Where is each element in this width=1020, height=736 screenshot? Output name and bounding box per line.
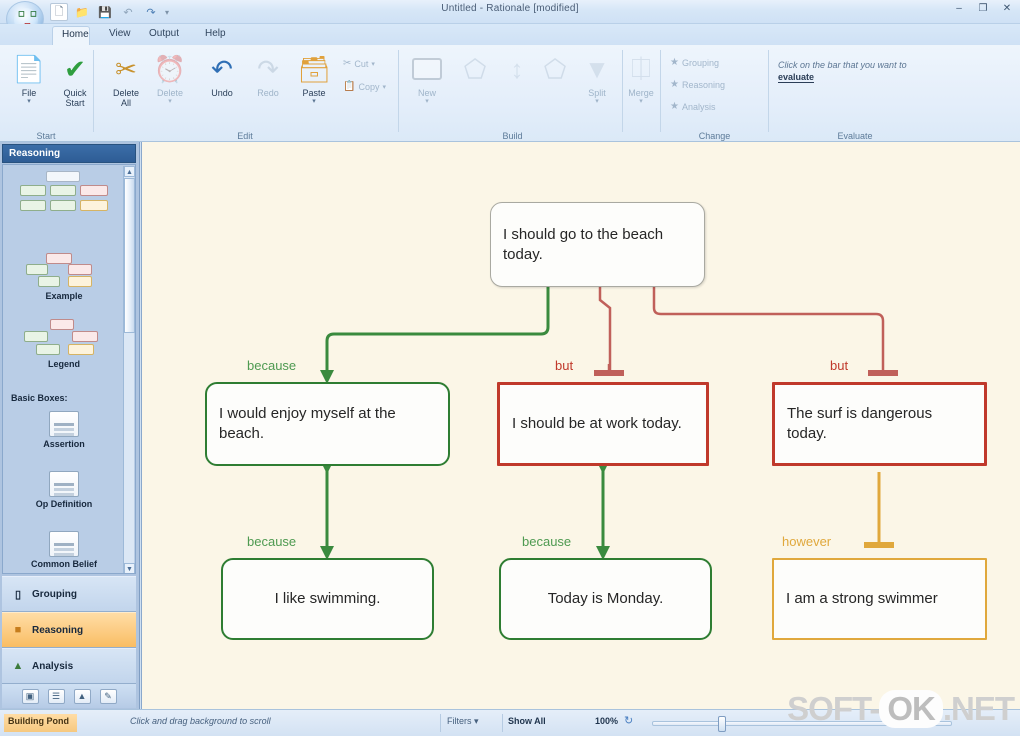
ribbon-group-start: 📄 File ▾ ✔ Quick Start Start bbox=[0, 45, 92, 142]
sidebar-panel-body: Example Legend Basic Boxes: Assertion bbox=[2, 164, 136, 574]
watermark-pill: OK bbox=[879, 690, 943, 728]
minimize-button[interactable]: – bbox=[952, 4, 966, 14]
new-box-label: New bbox=[400, 88, 454, 98]
edge-label-n5: because bbox=[522, 534, 571, 549]
window-controls[interactable]: – ❐ ✕ bbox=[952, 4, 1014, 14]
group-label-start: Start bbox=[0, 131, 92, 141]
however-bar bbox=[864, 542, 894, 548]
filter-chevron-down-icon[interactable]: ▾ bbox=[474, 716, 479, 726]
delete-button[interactable]: ⏰ Delete ▾ bbox=[143, 50, 197, 106]
status-separator-2 bbox=[502, 714, 503, 732]
open-folder-icon[interactable]: 📁 bbox=[73, 3, 91, 21]
group-separator-2 bbox=[398, 50, 399, 132]
new-document-icon[interactable]: 🗋 bbox=[50, 3, 68, 21]
ribbon-group-merge: ⎅ Merge ▾ bbox=[624, 45, 659, 142]
reasoning-icon: ★ bbox=[670, 79, 679, 90]
argument-map-canvas[interactable]: because but but because because however … bbox=[141, 142, 1020, 709]
definition-caption: Op Definition bbox=[9, 499, 119, 509]
qat-more-icon[interactable]: ▾ bbox=[165, 8, 169, 17]
basic-box-common-belief[interactable]: Common Belief bbox=[9, 531, 119, 569]
map-preview-thumbnail[interactable] bbox=[9, 171, 119, 217]
map-node-root-text: I should go to the beach today. bbox=[503, 225, 692, 265]
paste-chevron-down-icon[interactable]: ▾ bbox=[287, 98, 341, 106]
sidebar-item-reasoning[interactable]: ■ Reasoning bbox=[2, 612, 136, 648]
basic-box-definition[interactable]: Op Definition bbox=[9, 471, 119, 509]
map-preview-graphic bbox=[16, 171, 112, 215]
orb-glyph-right: ◻ bbox=[28, 8, 39, 19]
definition-icon bbox=[49, 471, 79, 497]
sidebar-bottom-toolbar: ▣ ☰ ▲ ✎ bbox=[2, 684, 136, 708]
list-icon[interactable]: ☰ bbox=[48, 689, 65, 704]
evaluate-hint: Click on the bar that you want to evalua… bbox=[778, 59, 928, 83]
copy-button-label: Copy bbox=[358, 82, 379, 92]
tab-help[interactable]: Help bbox=[196, 26, 235, 45]
group-label-build: Build bbox=[400, 131, 625, 141]
new-chevron-down-icon[interactable]: ▾ bbox=[400, 98, 454, 106]
map-node-n6[interactable]: I am a strong swimmer bbox=[772, 558, 987, 640]
objection-bar-n3-bottom bbox=[868, 370, 898, 376]
maximize-button[interactable]: ❐ bbox=[976, 4, 990, 14]
map-node-root[interactable]: I should go to the beach today. bbox=[490, 202, 705, 287]
status-separator-1 bbox=[440, 714, 441, 732]
map-node-n1[interactable]: I would enjoy myself at the beach. bbox=[205, 382, 450, 466]
change-reasoning-label: Reasoning bbox=[682, 80, 725, 90]
common-belief-caption: Common Belief bbox=[9, 559, 119, 569]
basic-box-assertion[interactable]: Assertion bbox=[9, 411, 119, 449]
assertion-icon bbox=[49, 411, 79, 437]
watermark-left: SOFT- bbox=[787, 690, 879, 727]
grouping-icon: ★ bbox=[670, 57, 679, 68]
sidebar-item-grouping-label: Grouping bbox=[32, 589, 77, 600]
save-disk-icon[interactable]: 💾 bbox=[96, 3, 114, 21]
analysis-icon: ▲ bbox=[10, 659, 26, 673]
chart-icon[interactable]: ▲ bbox=[74, 689, 91, 704]
grouping-icon: ▯ bbox=[10, 587, 26, 601]
paste-button[interactable]: 🗃 Paste ▾ bbox=[287, 50, 341, 106]
ribbon-group-build: New ▾ ⬠ ↕ ⬠ ▼ Split ▾ Build bbox=[400, 45, 625, 142]
map-node-n5[interactable]: Today is Monday. bbox=[499, 558, 712, 640]
ribbon-tab-bar: Home View Output Help bbox=[0, 24, 1020, 45]
reasoning-icon: ■ bbox=[10, 623, 26, 637]
legend-thumbnail[interactable]: Legend bbox=[9, 319, 119, 369]
left-sidebar: Reasoning bbox=[0, 142, 140, 709]
watermark: SOFT-OK.NET bbox=[787, 690, 1014, 728]
sidebar-item-analysis[interactable]: ▲ Analysis bbox=[2, 648, 136, 684]
ribbon-group-evaluate: Click on the bar that you want to evalua… bbox=[770, 45, 940, 142]
map-node-n3[interactable]: The surf is dangerous today. bbox=[772, 382, 987, 466]
group-label-evaluate: Evaluate bbox=[770, 131, 940, 141]
assertion-caption: Assertion bbox=[9, 439, 119, 449]
cut-button-label: Cut bbox=[354, 59, 368, 69]
map-node-n6-text: I am a strong swimmer bbox=[786, 589, 938, 609]
status-filter-text: Filters bbox=[447, 716, 472, 726]
map-node-n4[interactable]: I like swimming. bbox=[221, 558, 434, 640]
undo-arrow-icon[interactable]: ↶ bbox=[119, 3, 137, 21]
sidebar-panel-title: Reasoning bbox=[2, 144, 136, 163]
map-node-n4-text: I like swimming. bbox=[275, 589, 381, 609]
group-label-change: Change bbox=[662, 131, 767, 141]
delete-clock-icon: ⏰ bbox=[143, 50, 197, 88]
status-zoom-level: 100% bbox=[595, 716, 618, 726]
change-grouping-button[interactable]: ★ Grouping bbox=[670, 57, 719, 68]
redo-arrow-icon[interactable]: ↷ bbox=[142, 3, 160, 21]
cut-chevron-down-icon[interactable]: ▾ bbox=[371, 60, 375, 68]
change-reasoning-button[interactable]: ★ Reasoning bbox=[670, 79, 725, 90]
delete-chevron-down-icon[interactable]: ▾ bbox=[143, 98, 197, 106]
zoom-refresh-icon[interactable]: ↻ bbox=[624, 714, 633, 727]
sidebar-scroll-thumb[interactable] bbox=[124, 178, 135, 333]
ribbon: 📄 File ▾ ✔ Quick Start Start ✂ Delete Al… bbox=[0, 45, 1020, 142]
group-label-edit: Edit bbox=[95, 131, 395, 141]
change-analysis-button[interactable]: ★ Analysis bbox=[670, 101, 715, 112]
evaluate-hint-line2: evaluate bbox=[778, 72, 814, 83]
evaluate-hint-line1: Click on the bar that you want to bbox=[778, 60, 907, 70]
example-thumbnail[interactable]: Example bbox=[9, 253, 119, 301]
scroll-up-icon[interactable]: ▲ bbox=[124, 166, 135, 177]
example-caption: Example bbox=[9, 291, 119, 301]
quick-access-toolbar[interactable]: 🗋 📁 💾 ↶ ↷ ▾ bbox=[50, 2, 169, 22]
map-node-n2-text: I should be at work today. bbox=[512, 414, 682, 434]
map-node-n1-text: I would enjoy myself at the beach. bbox=[219, 404, 436, 444]
orb-glyph-left: ◻ bbox=[16, 8, 27, 19]
sidebar-item-analysis-label: Analysis bbox=[32, 661, 73, 672]
note-icon[interactable]: ✎ bbox=[100, 689, 117, 704]
status-filter-label[interactable]: Filters ▾ bbox=[447, 716, 479, 727]
edge-label-n3: but bbox=[830, 358, 848, 373]
tab-output[interactable]: Output bbox=[140, 26, 188, 45]
edge-label-n2: but bbox=[555, 358, 573, 373]
sidebar-item-grouping[interactable]: ▯ Grouping bbox=[2, 576, 136, 612]
new-box-icon bbox=[400, 50, 454, 88]
clipboard-icon: 🗃 bbox=[287, 50, 341, 88]
paste-button-label: Paste bbox=[287, 88, 341, 98]
group-separator-5 bbox=[768, 50, 769, 132]
panel-icon[interactable]: ▣ bbox=[22, 689, 39, 704]
map-node-n2[interactable]: I should be at work today. bbox=[497, 382, 709, 466]
edge-label-n4: because bbox=[247, 534, 296, 549]
ribbon-group-edit: ✂ Delete All ⏰ Delete ▾ ↶ Undo ↷ Redo 🗃 … bbox=[95, 45, 395, 142]
ribbon-group-change: ★ Grouping ★ Reasoning ★ Analysis Change bbox=[662, 45, 767, 142]
status-show-all-button[interactable]: Show All bbox=[508, 716, 546, 726]
legend-caption: Legend bbox=[9, 359, 119, 369]
group-separator-1 bbox=[93, 50, 94, 132]
map-node-n5-text: Today is Monday. bbox=[548, 589, 664, 609]
tab-view[interactable]: View bbox=[100, 26, 140, 45]
change-grouping-label: Grouping bbox=[682, 58, 719, 68]
group-separator-4 bbox=[660, 50, 661, 132]
copy-icon: 📋 bbox=[343, 81, 355, 92]
basic-boxes-label: Basic Boxes: bbox=[11, 393, 68, 403]
map-node-n3-text: The surf is dangerous today. bbox=[787, 404, 972, 444]
delete-button-label: Delete bbox=[143, 88, 197, 98]
analysis-icon: ★ bbox=[670, 101, 679, 112]
status-mode-badge: Building Pond bbox=[4, 714, 77, 732]
status-hint: Click and drag background to scroll bbox=[130, 716, 271, 726]
zoom-slider-thumb[interactable] bbox=[718, 716, 726, 732]
sidebar-scrollbar[interactable]: ▲ ▼ bbox=[123, 166, 134, 574]
edge-label-n1: because bbox=[247, 358, 296, 373]
edge-label-n6: however bbox=[782, 534, 831, 549]
scissors-icon: ✂ bbox=[343, 58, 351, 69]
watermark-right: .NET bbox=[943, 690, 1014, 727]
copy-chevron-down-icon[interactable]: ▾ bbox=[382, 83, 386, 91]
change-analysis-label: Analysis bbox=[682, 102, 716, 112]
example-graphic bbox=[16, 253, 112, 289]
cut-button[interactable]: ✂ Cut ▾ bbox=[343, 58, 375, 69]
sidebar-item-reasoning-label: Reasoning bbox=[32, 625, 83, 636]
close-button[interactable]: ✕ bbox=[1000, 4, 1014, 14]
sidebar-nav: ▯ Grouping ■ Reasoning ▲ Analysis bbox=[2, 576, 136, 684]
legend-graphic bbox=[16, 319, 112, 357]
copy-button[interactable]: 📋 Copy ▾ bbox=[343, 81, 386, 92]
tab-home[interactable]: Home bbox=[52, 26, 90, 45]
common-belief-icon bbox=[49, 531, 79, 557]
scroll-down-icon[interactable]: ▼ bbox=[124, 563, 135, 574]
new-box-button[interactable]: New ▾ bbox=[400, 50, 454, 106]
